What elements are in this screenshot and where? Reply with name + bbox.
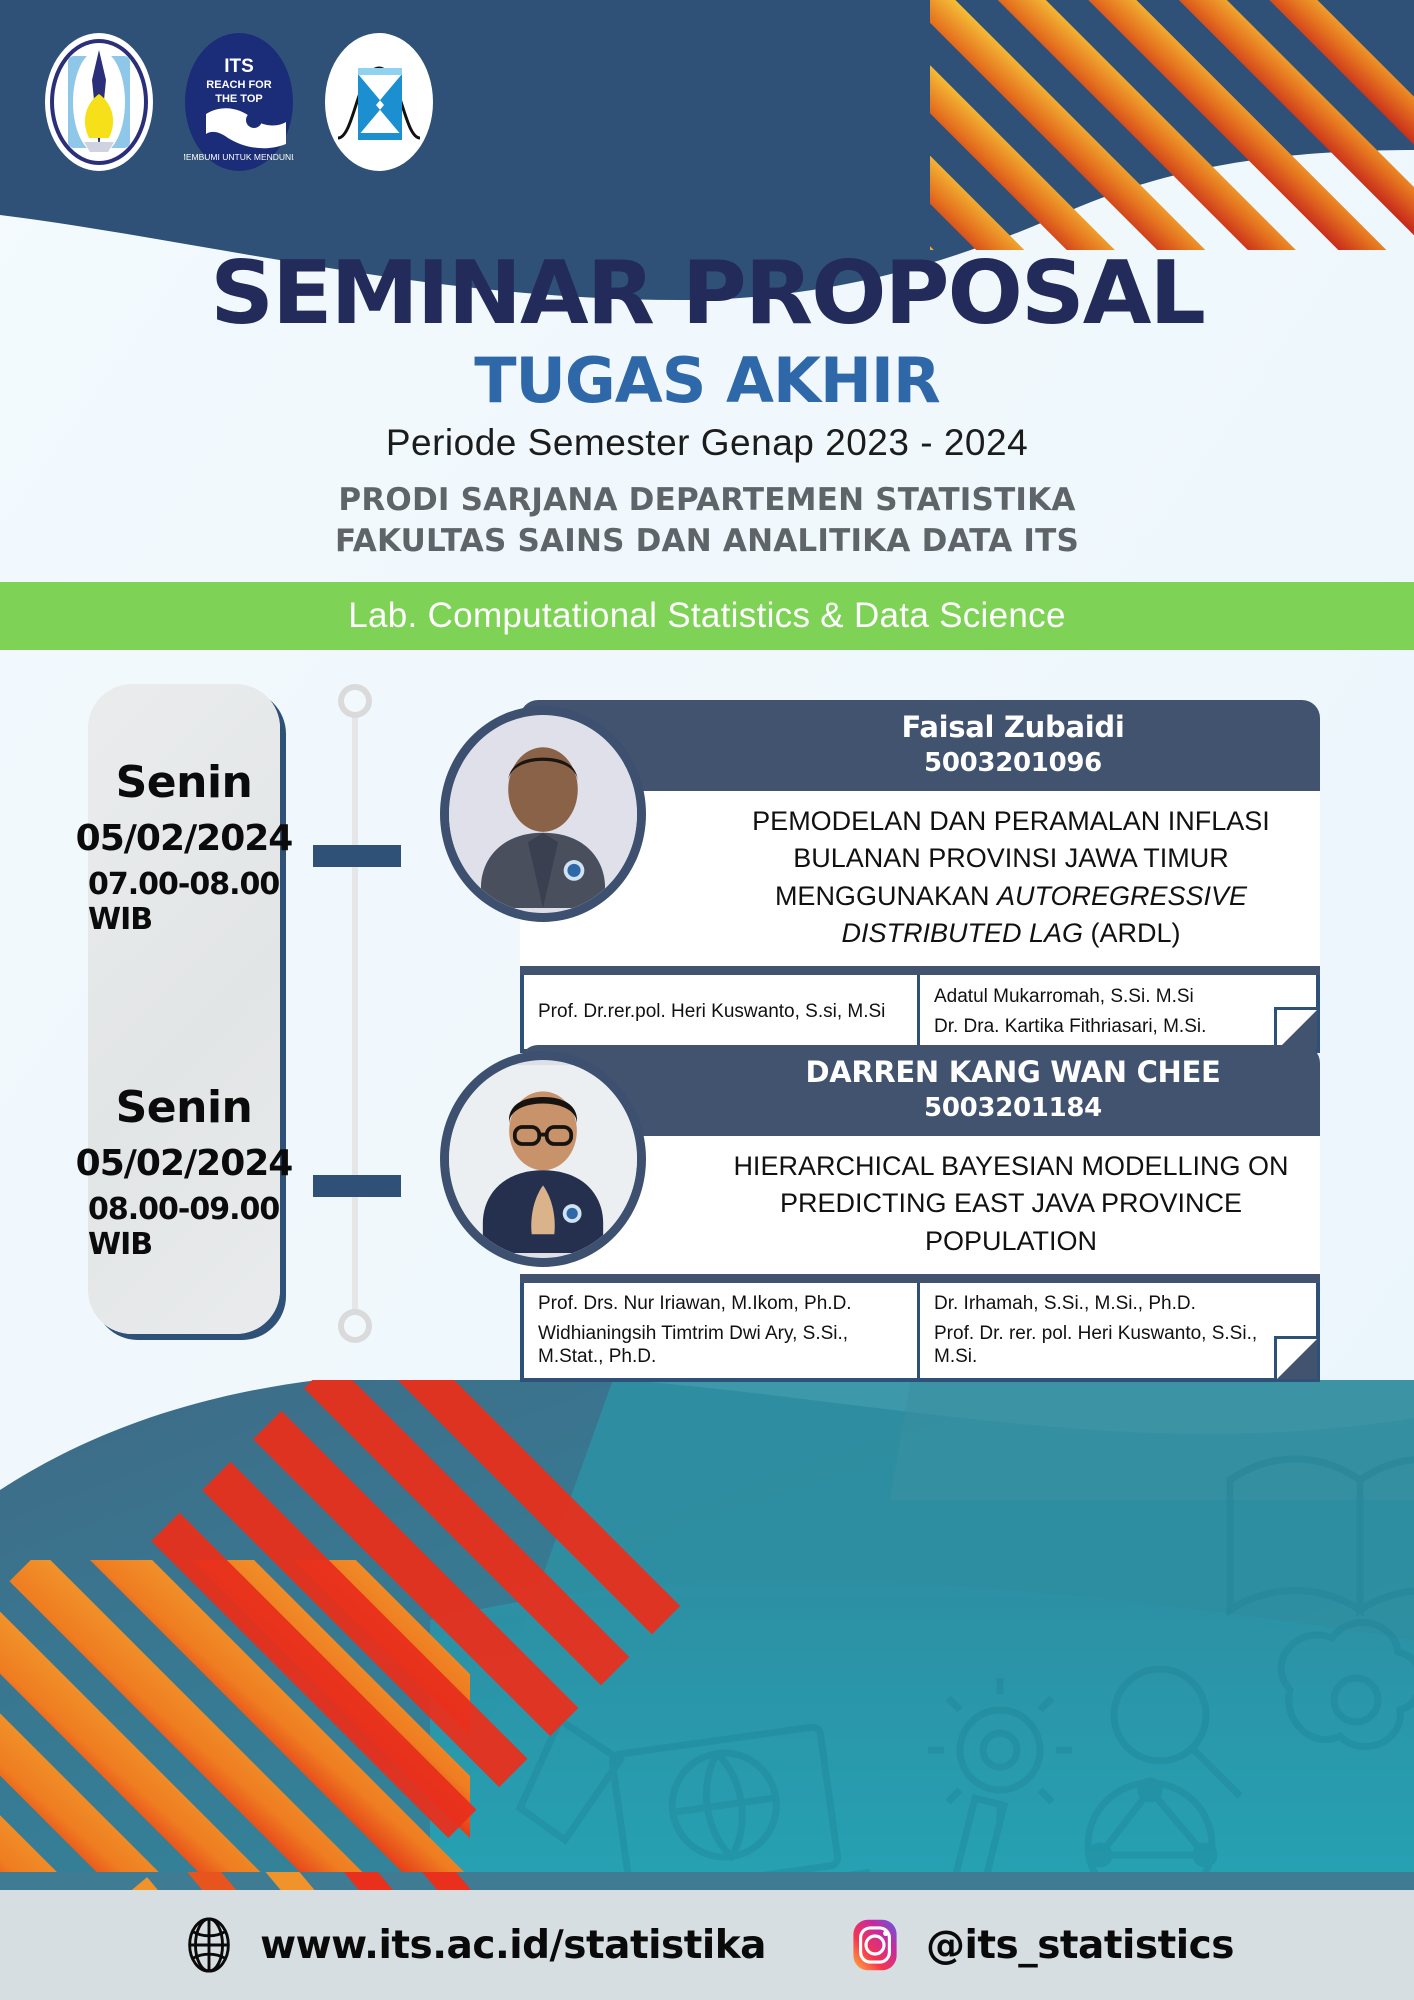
thesis-title-line: PREDICTING EAST JAVA PROVINCE xyxy=(720,1185,1302,1222)
day-slot-1: Senin 05/02/2024 07.00-08.00 WIB xyxy=(88,684,280,1009)
student-name-2: DARREN KANG WAN CHEE xyxy=(720,1055,1306,1090)
examiner-name: Adatul Mukarromah, S.Si. M.Si xyxy=(934,986,1302,1009)
globe-icon xyxy=(180,1916,238,1974)
its-crest-logo xyxy=(40,28,158,176)
student-nrp-1: 5003201096 xyxy=(720,747,1306,781)
lab-band-label: Lab. Computational Statistics & Data Sci… xyxy=(348,596,1065,636)
svg-text:THE TOP: THE TOP xyxy=(215,93,262,105)
day-panel: Senin 05/02/2024 07.00-08.00 WIB Senin 0… xyxy=(88,684,280,1334)
instagram-item[interactable]: @its_statistics xyxy=(846,1916,1234,1974)
supervisor-box-2: Prof. Drs. Nur Iriawan, M.Ikom, Ph.D.Wid… xyxy=(520,1283,1320,1382)
day-slot-2: Senin 05/02/2024 08.00-09.00 WIB xyxy=(88,1009,280,1334)
instagram-label: @its_statistics xyxy=(926,1923,1234,1968)
time-label-1: 07.00-08.00 WIB xyxy=(88,867,280,937)
supervisor-name: Widhianingsih Timtrim Dwi Ary, S.Si., M.… xyxy=(538,1323,903,1369)
examiner-column-1: Adatul Mukarromah, S.Si. M.SiDr. Dra. Ka… xyxy=(920,975,1316,1049)
timeline-connector-2 xyxy=(313,1175,401,1197)
svg-text:REACH FOR: REACH FOR xyxy=(206,79,271,91)
statistics-sigma-logo xyxy=(320,28,438,176)
student-photo-1 xyxy=(440,706,646,922)
poster-footer: www.its.ac.id/statistika xyxy=(0,1890,1414,2000)
day-label-2: Senin xyxy=(116,1082,253,1133)
thesis-title-line: BULANAN PROVINSI JAWA TIMUR xyxy=(720,840,1302,877)
supervisor-column-1: Prof. Dr.rer.pol. Heri Kuswanto, S.si, M… xyxy=(524,975,920,1049)
supervisor-column-2: Prof. Drs. Nur Iriawan, M.Ikom, Ph.D.Wid… xyxy=(524,1283,920,1378)
poster-header: ITS REACH FOR THE TOP MEMBUMI UNTUK MEND… xyxy=(0,0,1414,620)
thesis-title-line: DISTRIBUTED LAG (ARDL) xyxy=(720,915,1302,952)
examiner-name: Dr. Dra. Kartika Fithriasari, M.Si. xyxy=(934,1016,1302,1039)
date-label-1: 05/02/2024 xyxy=(76,818,293,859)
timeline-dot-bottom xyxy=(338,1309,372,1343)
examiner-name: Prof. Dr. rer. pol. Heri Kuswanto, S.Si.… xyxy=(934,1323,1302,1369)
student-photo-2 xyxy=(440,1051,646,1267)
supervisor-name: Prof. Drs. Nur Iriawan, M.Ikom, Ph.D. xyxy=(538,1293,903,1316)
its-reach-for-the-top-logo: ITS REACH FOR THE TOP MEMBUMI UNTUK MEND… xyxy=(180,28,298,176)
supervisor-box-1: Prof. Dr.rer.pol. Heri Kuswanto, S.si, M… xyxy=(520,975,1320,1053)
corner-fold-icon-2 xyxy=(1274,1336,1320,1382)
svg-text:ITS: ITS xyxy=(224,56,254,77)
thesis-title-line: MENGGUNAKAN AUTOREGRESSIVE xyxy=(720,878,1302,915)
page-subtitle: TUGAS AKHIR xyxy=(0,345,1414,416)
seminar-poster: ITS REACH FOR THE TOP MEMBUMI UNTUK MEND… xyxy=(0,0,1414,2000)
prodi-line-2: FAKULTAS SAINS DAN ANALITIKA DATA ITS xyxy=(0,521,1414,561)
supervisor-name: Prof. Dr.rer.pol. Heri Kuswanto, S.si, M… xyxy=(538,1001,903,1024)
website-label: www.its.ac.id/statistika xyxy=(260,1923,766,1968)
thesis-title-line: HIERARCHICAL BAYESIAN MODELLING ON xyxy=(720,1148,1302,1185)
title-block: SEMINAR PROPOSAL TUGAS AKHIR Periode Sem… xyxy=(0,250,1414,561)
seminar-entry-2: DARREN KANG WAN CHEE 5003201184 HIERARCH… xyxy=(440,1045,1320,1382)
date-label-2: 05/02/2024 xyxy=(76,1143,293,1184)
seminar-entry-1: Faisal Zubaidi 5003201096 PEMODELAN DAN … xyxy=(440,700,1320,1053)
page-title: SEMINAR PROPOSAL xyxy=(0,250,1414,337)
period-text: Periode Semester Genap 2023 - 2024 xyxy=(0,422,1414,464)
prodi-line-1: PRODI SARJANA DEPARTEMEN STATISTIKA xyxy=(0,480,1414,520)
lab-band: Lab. Computational Statistics & Data Sci… xyxy=(0,582,1414,650)
thesis-title-text-1: PEMODELAN DAN PERAMALAN INFLASIBULANAN P… xyxy=(720,803,1302,952)
day-label-1: Senin xyxy=(116,757,253,808)
thesis-title-line: PEMODELAN DAN PERAMALAN INFLASI xyxy=(720,803,1302,840)
timeline-connector-1 xyxy=(313,845,401,867)
student-nrp-2: 5003201184 xyxy=(720,1092,1306,1126)
timeline-line xyxy=(352,700,358,1330)
examiner-column-2: Dr. Irhamah, S.Si., M.Si., Ph.D.Prof. Dr… xyxy=(920,1283,1316,1378)
time-label-2: 08.00-09.00 WIB xyxy=(88,1192,280,1262)
thesis-title-text-2: HIERARCHICAL BAYESIAN MODELLING ONPREDIC… xyxy=(720,1148,1302,1260)
logo-row: ITS REACH FOR THE TOP MEMBUMI UNTUK MEND… xyxy=(40,28,438,176)
examiner-name: Dr. Irhamah, S.Si., M.Si., Ph.D. xyxy=(934,1293,1302,1316)
svg-text:MEMBUMI UNTUK MENDUNIA: MEMBUMI UNTUK MENDUNIA xyxy=(184,152,294,162)
thesis-title-line: POPULATION xyxy=(720,1223,1302,1260)
website-item[interactable]: www.its.ac.id/statistika xyxy=(180,1916,766,1974)
student-name-1: Faisal Zubaidi xyxy=(720,710,1306,745)
instagram-icon xyxy=(846,1916,904,1974)
timeline-dot-top xyxy=(338,684,372,718)
